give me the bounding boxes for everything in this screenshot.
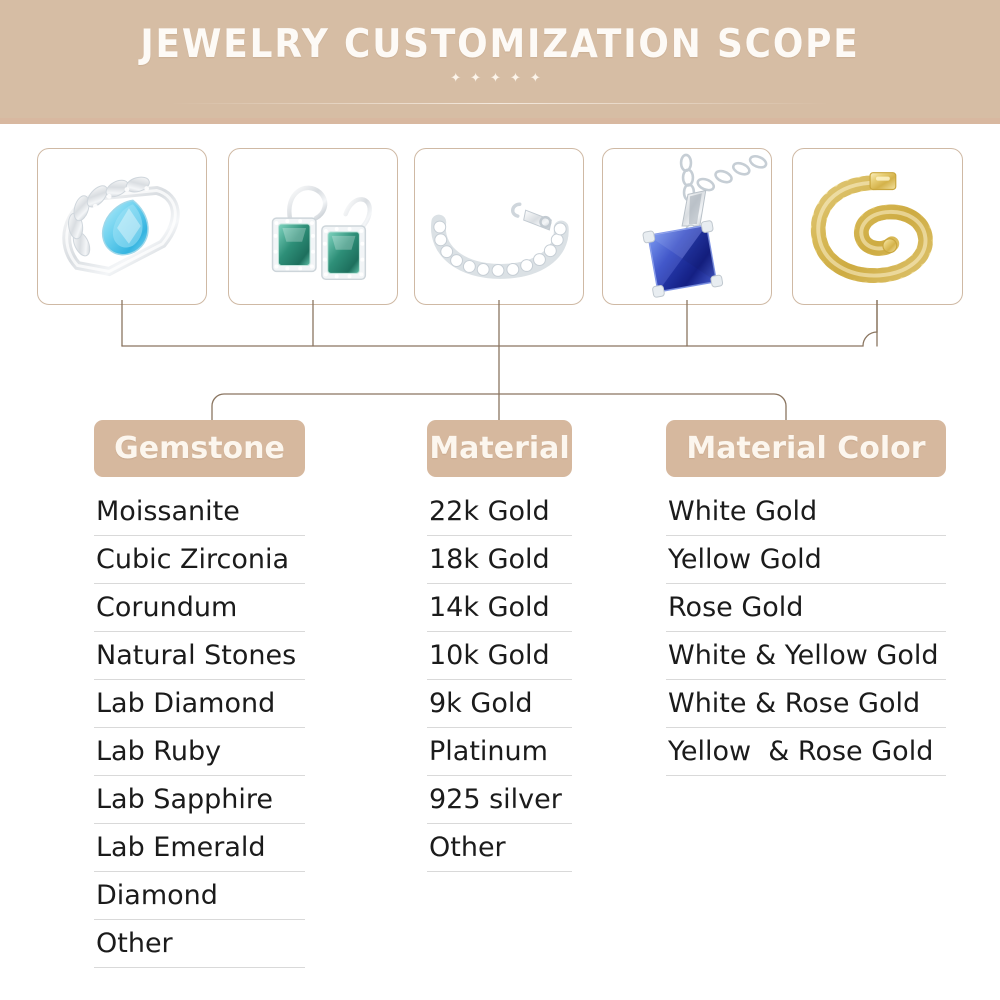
- list-item[interactable]: Lab Diamond: [94, 680, 305, 728]
- list-item[interactable]: 925 silver: [427, 776, 572, 824]
- list-item[interactable]: 14k Gold: [427, 584, 572, 632]
- product-card-chain[interactable]: [792, 148, 963, 305]
- header-divider: [170, 103, 830, 104]
- connector-lines: [0, 300, 1000, 428]
- material-option-list: 22k Gold 18k Gold 14k Gold 10k Gold 9k G…: [427, 488, 572, 872]
- list-item[interactable]: 18k Gold: [427, 536, 572, 584]
- gold-chain-icon: [793, 149, 962, 304]
- header-band-footer: [0, 118, 1000, 124]
- gemstone-option-list: Moissanite Cubic Zirconia Corundum Natur…: [94, 488, 305, 968]
- category-material-color: Material Color White Gold Yellow Gold Ro…: [666, 420, 946, 776]
- list-item[interactable]: 22k Gold: [427, 488, 572, 536]
- page-title: JEWELRY CUSTOMIZATION SCOPE: [40, 22, 960, 67]
- bracelet-icon: [415, 149, 583, 304]
- product-card-necklace[interactable]: [602, 148, 772, 305]
- list-item[interactable]: Lab Emerald: [94, 824, 305, 872]
- list-item[interactable]: Cubic Zirconia: [94, 536, 305, 584]
- product-card-ring[interactable]: [37, 148, 207, 305]
- list-item[interactable]: Platinum: [427, 728, 572, 776]
- list-item[interactable]: Diamond: [94, 872, 305, 920]
- list-item[interactable]: Moissanite: [94, 488, 305, 536]
- category-material: Material 22k Gold 18k Gold 14k Gold 10k …: [427, 420, 572, 872]
- category-columns: Gemstone Moissanite Cubic Zirconia Corun…: [0, 420, 1000, 1000]
- necklace-icon: [603, 149, 771, 304]
- category-title-gemstone: Gemstone: [94, 420, 305, 477]
- list-item[interactable]: Yellow & Rose Gold: [666, 728, 946, 776]
- list-item[interactable]: Lab Ruby: [94, 728, 305, 776]
- category-gemstone: Gemstone Moissanite Cubic Zirconia Corun…: [94, 420, 305, 968]
- list-item[interactable]: Yellow Gold: [666, 536, 946, 584]
- list-item[interactable]: 10k Gold: [427, 632, 572, 680]
- list-item[interactable]: White & Rose Gold: [666, 680, 946, 728]
- product-thumbnail-row: [0, 148, 1000, 306]
- earrings-icon: [229, 149, 397, 304]
- product-card-earrings[interactable]: [228, 148, 398, 305]
- star-divider-icon: ✦✦✦✦✦: [0, 72, 1000, 86]
- header-band: JEWELRY CUSTOMIZATION SCOPE ✦✦✦✦✦: [0, 0, 1000, 124]
- list-item[interactable]: Rose Gold: [666, 584, 946, 632]
- list-item[interactable]: Natural Stones: [94, 632, 305, 680]
- ring-icon: [38, 149, 206, 304]
- list-item[interactable]: White & Yellow Gold: [666, 632, 946, 680]
- list-item[interactable]: Other: [94, 920, 305, 968]
- list-item[interactable]: Other: [427, 824, 572, 872]
- list-item[interactable]: 9k Gold: [427, 680, 572, 728]
- material-color-option-list: White Gold Yellow Gold Rose Gold White &…: [666, 488, 946, 776]
- connector-tree: [0, 300, 1000, 428]
- product-card-bracelet[interactable]: [414, 148, 584, 305]
- list-item[interactable]: Lab Sapphire: [94, 776, 305, 824]
- list-item[interactable]: Corundum: [94, 584, 305, 632]
- category-title-material-color: Material Color: [666, 420, 946, 477]
- list-item[interactable]: White Gold: [666, 488, 946, 536]
- category-title-material: Material: [427, 420, 572, 477]
